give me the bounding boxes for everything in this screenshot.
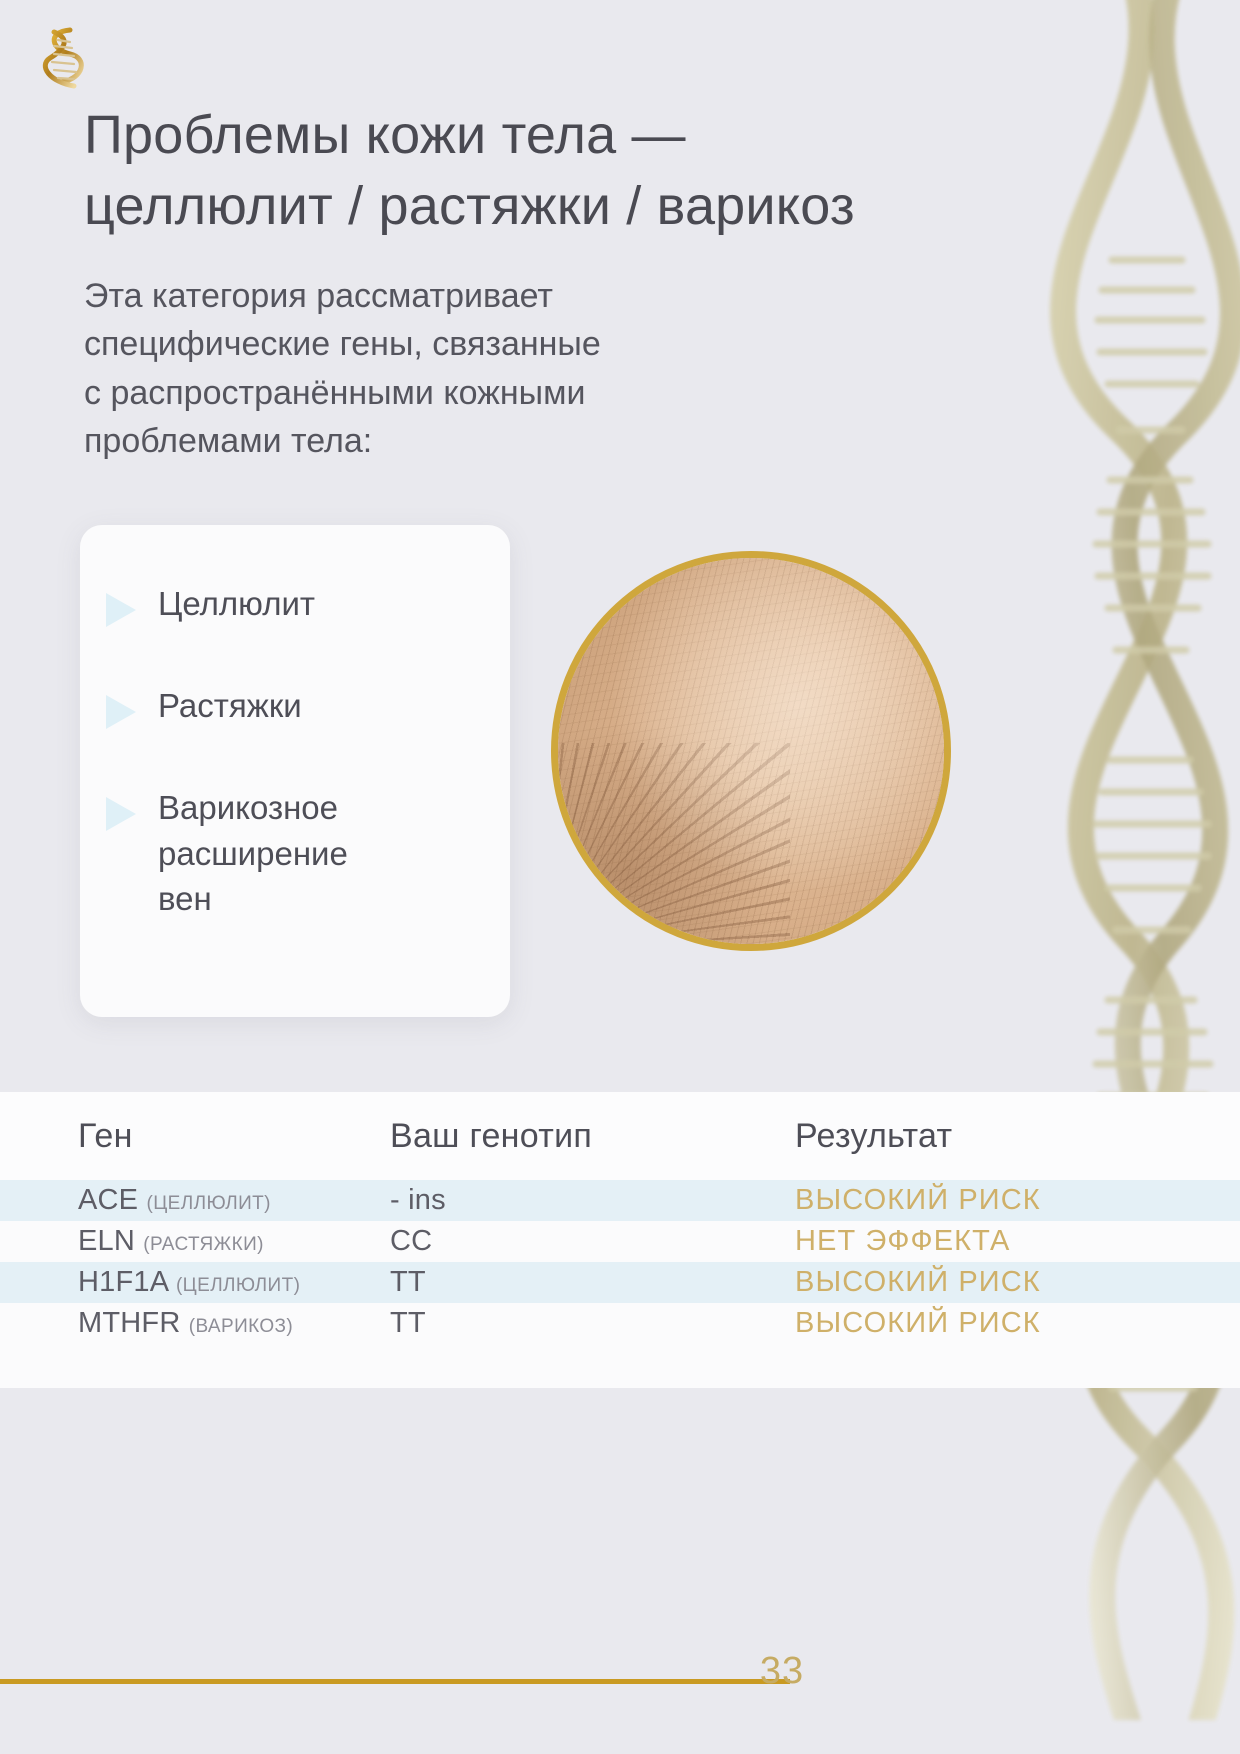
gene-note: (ЦЕЛЛЮЛИТ) [147, 1193, 271, 1214]
intro-paragraph: Эта категория рассматривает специфически… [84, 272, 844, 465]
cell-gene: ACE (ЦЕЛЛЮЛИТ) [78, 1184, 390, 1217]
gene-symbol: ELN [78, 1225, 135, 1257]
cell-gene: ELN (РАСТЯЖКИ) [78, 1225, 390, 1258]
cell-result: НЕТ ЭФФЕКТА [795, 1225, 1200, 1258]
report-page: Проблемы кожи тела — целлюлит / растяжки… [0, 0, 1240, 1754]
table-row: ACE (ЦЕЛЛЮЛИТ) - ins ВЫСОКИЙ РИСК [0, 1180, 1240, 1221]
gene-note: (ВАРИКОЗ) [189, 1316, 293, 1337]
genotype-results-table: Ген Ваш генотип Результат ACE (ЦЕЛЛЮЛИТ)… [0, 1092, 1240, 1388]
cell-gene: H1F1A (ЦЕЛЛЮЛИТ) [78, 1266, 390, 1299]
triangle-right-icon [106, 695, 136, 729]
conditions-card: Целлюлит Растяжки Варикозное расширение … [80, 525, 510, 1017]
column-header-genotype: Ваш генотип [390, 1117, 795, 1156]
list-item: Целлюлит [106, 581, 482, 627]
cell-genotype: TT [390, 1266, 795, 1299]
triangle-right-icon [106, 797, 136, 831]
table-bottom-spacer [0, 1344, 1240, 1388]
cell-gene: MTHFR (ВАРИКОЗ) [78, 1307, 390, 1340]
list-item: Растяжки [106, 683, 482, 729]
cell-result: ВЫСОКИЙ РИСК [795, 1184, 1200, 1217]
column-header-result: Результат [795, 1117, 1200, 1156]
cell-genotype: TT [390, 1307, 795, 1340]
gene-note: (РАСТЯЖКИ) [143, 1234, 264, 1255]
list-item: Варикозное расширение вен [106, 785, 482, 922]
list-item-label: Варикозное расширение вен [158, 785, 348, 922]
list-item-label: Растяжки [158, 683, 302, 729]
dna-helix-logo [30, 20, 94, 98]
column-header-gene: Ген [78, 1117, 390, 1156]
list-item-label: Целлюлит [158, 581, 315, 627]
table-row: MTHFR (ВАРИКОЗ) TT ВЫСОКИЙ РИСК [0, 1303, 1240, 1344]
cell-genotype: CC [390, 1225, 795, 1258]
table-row: H1F1A (ЦЕЛЛЮЛИТ) TT ВЫСОКИЙ РИСК [0, 1262, 1240, 1303]
photo-highlight-layer [558, 558, 944, 944]
gene-note: (ЦЕЛЛЮЛИТ) [176, 1275, 300, 1296]
footer-divider [0, 1679, 790, 1684]
gene-symbol: ACE [78, 1184, 138, 1216]
cellulite-skin-photo [551, 551, 951, 951]
gene-symbol: MTHFR [78, 1307, 180, 1339]
triangle-right-icon [106, 593, 136, 627]
page-number: 33 [737, 1650, 827, 1693]
gene-symbol: H1F1A [78, 1266, 168, 1298]
cell-result: ВЫСОКИЙ РИСК [795, 1266, 1200, 1299]
cell-result: ВЫСОКИЙ РИСК [795, 1307, 1200, 1340]
table-row: ELN (РАСТЯЖКИ) CC НЕТ ЭФФЕКТА [0, 1221, 1240, 1262]
page-title: Проблемы кожи тела — целлюлит / растяжки… [84, 100, 964, 243]
cell-genotype: - ins [390, 1184, 795, 1217]
table-header-row: Ген Ваш генотип Результат [0, 1092, 1240, 1180]
